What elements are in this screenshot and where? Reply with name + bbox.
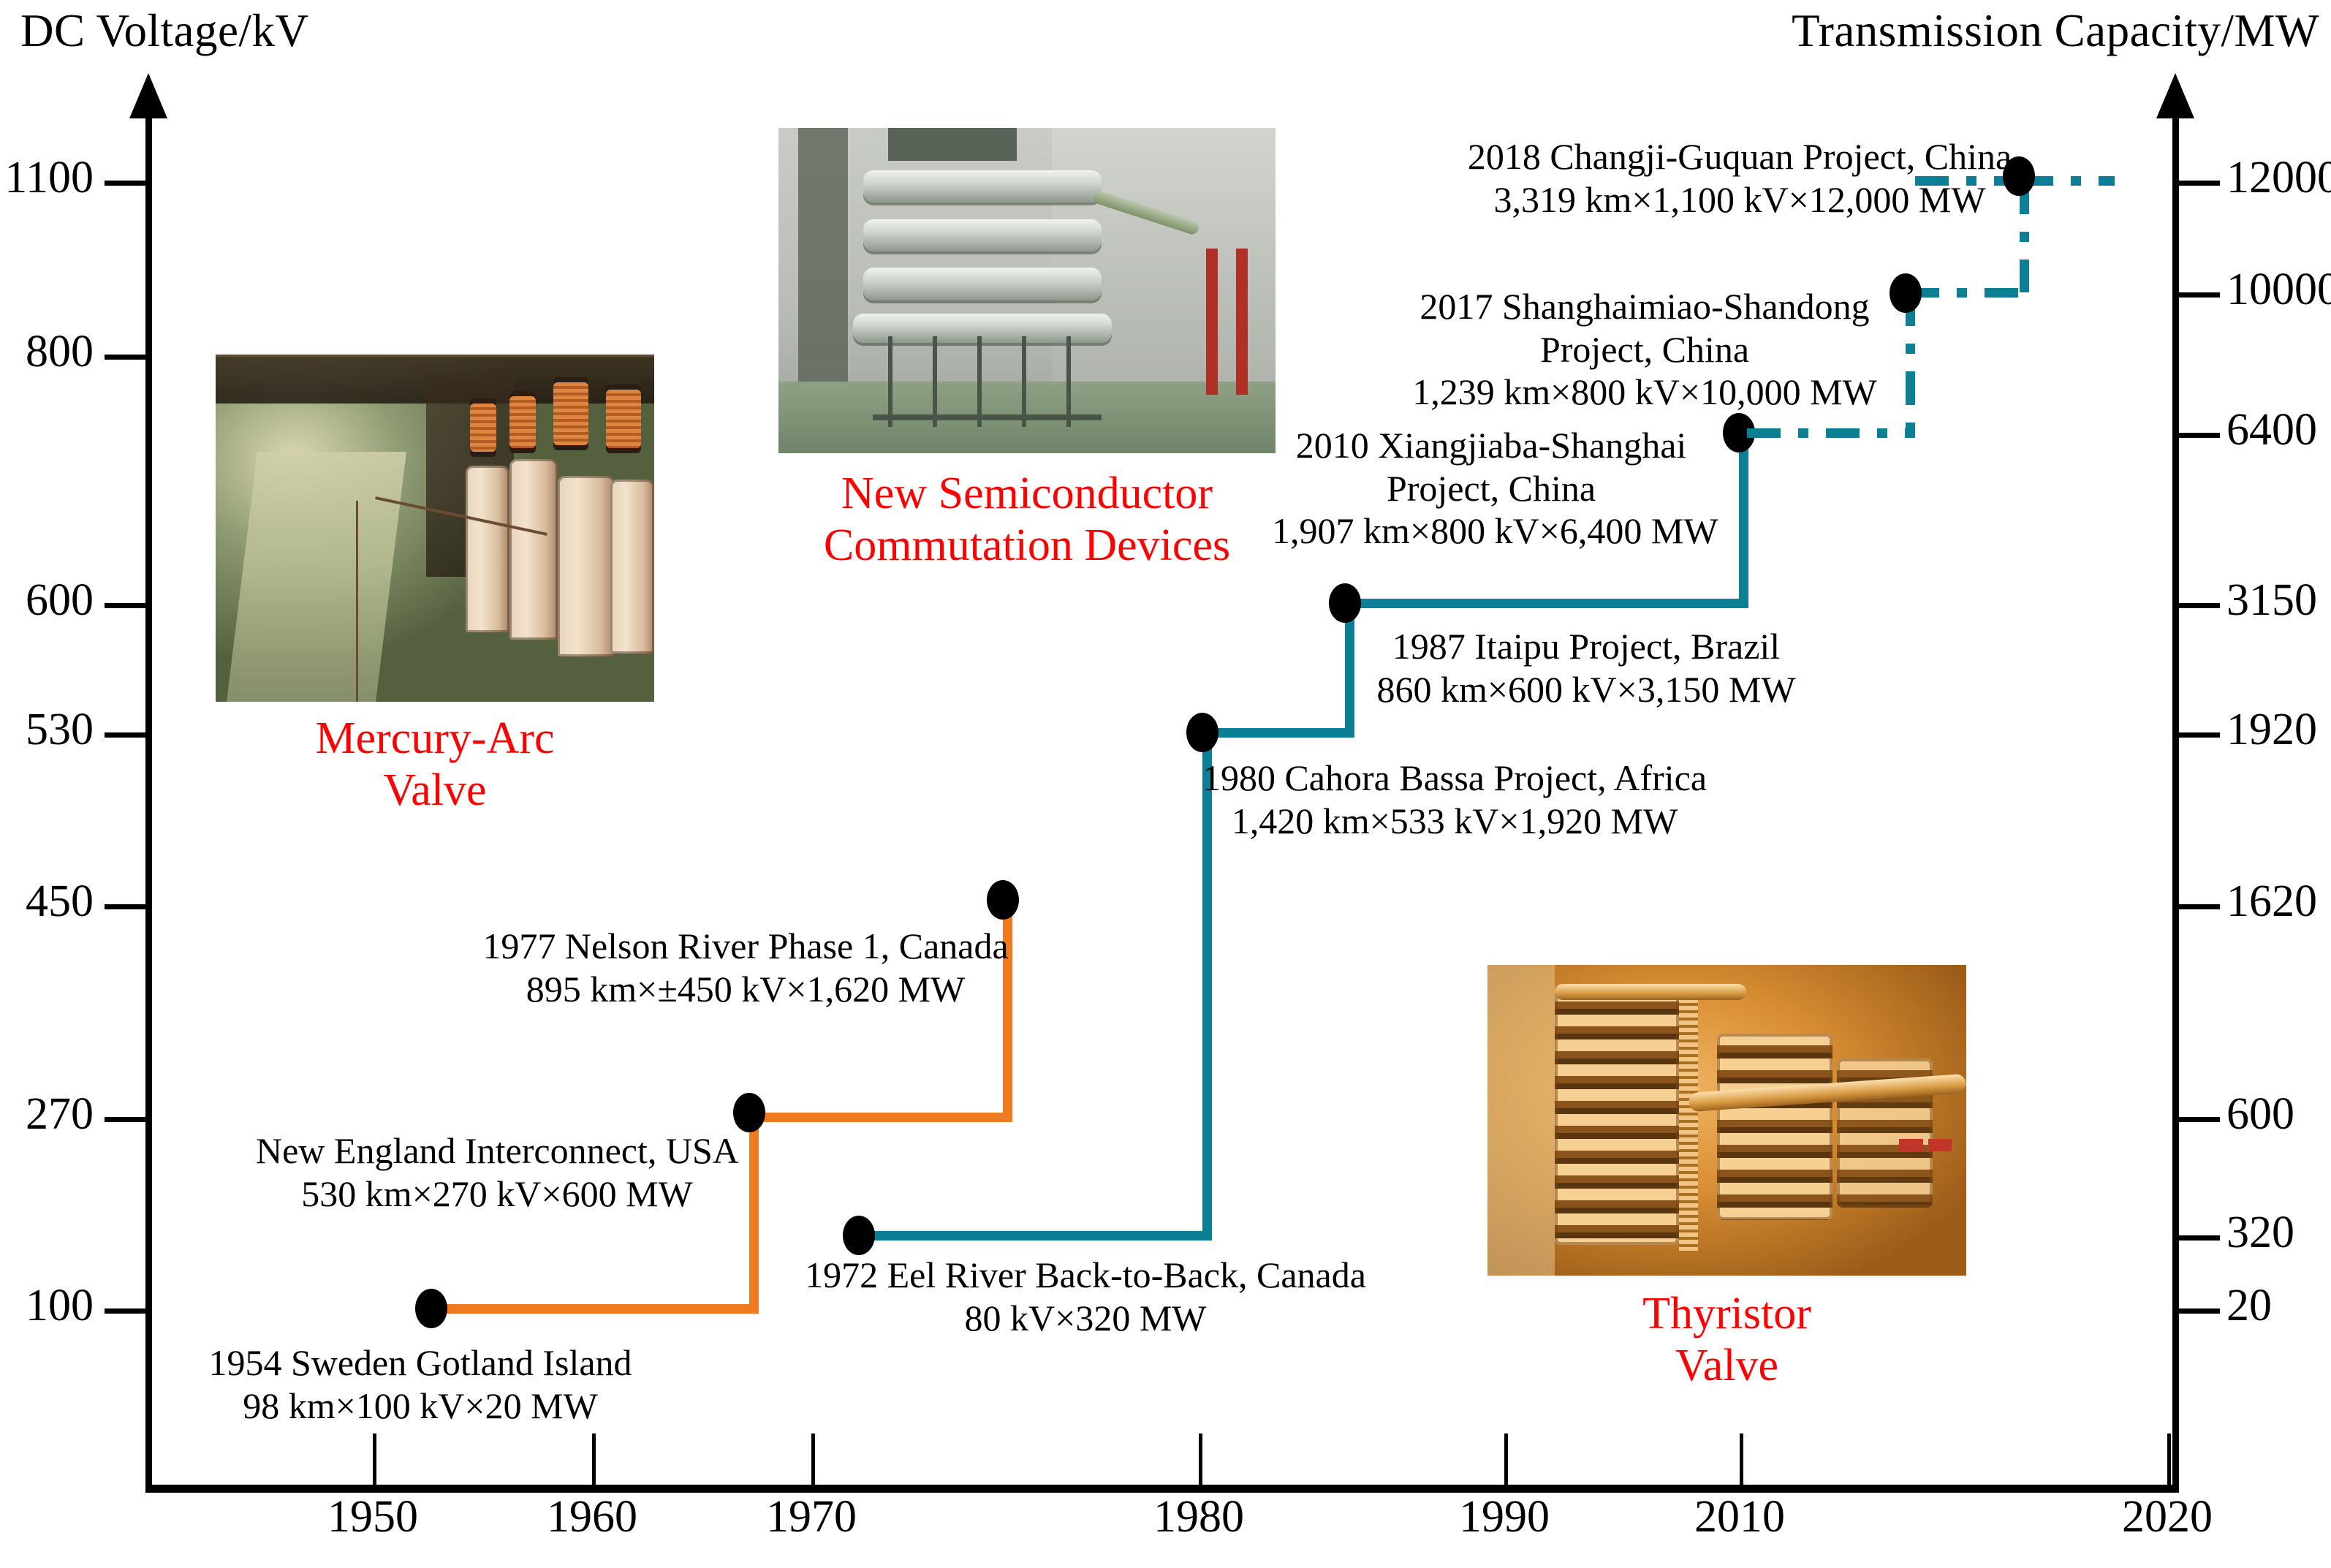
left-tick-100: [105, 1308, 145, 1314]
annotation-shanghaimiao-line1: 2017 Shanghaimiao-Shandong: [1411, 285, 1879, 328]
x-tick-1980: [1199, 1433, 1202, 1485]
annotation-changji-line1: 2018 Changji-Guquan Project, China: [1462, 135, 2017, 178]
annotation-itaipu-line1: 1987 Itaipu Project, Brazil: [1360, 625, 1813, 668]
caption-mercury-line1: Mercury-Arc: [216, 713, 654, 765]
right-tick-1620: [2179, 904, 2220, 909]
right-tick-label-1920: 1920: [2226, 704, 2317, 756]
right-tick-label-600: 600: [2226, 1088, 2294, 1140]
line-segment-shanghaimiao-riser-v: [1906, 292, 1915, 433]
left-tick-label-270: 270: [0, 1088, 94, 1140]
annotation-eelriver: 1972 Eel River Back-to-Back, Canada 80 k…: [793, 1254, 1378, 1339]
left-tick-label-530: 530: [0, 704, 94, 756]
caption-thyristor-valve: Thyristor Valve: [1487, 1288, 1966, 1391]
data-point-cahora-1980[interactable]: [1186, 713, 1218, 752]
right-axis-line: [2172, 115, 2179, 1493]
caption-mercury-line2: Valve: [216, 765, 654, 817]
right-tick-label-320: 320: [2226, 1207, 2294, 1259]
left-tick-label-100: 100: [0, 1280, 94, 1332]
right-tick-320: [2179, 1235, 2220, 1241]
left-tick-label-600: 600: [0, 575, 94, 626]
x-tick-2010: [1740, 1433, 1743, 1485]
x-tick-2020: [2167, 1433, 2171, 1485]
caption-mercury-arc-valve: Mercury-Arc Valve: [216, 713, 654, 816]
x-tick-label-1960: 1960: [490, 1491, 694, 1543]
x-tick-label-2010: 2010: [1637, 1491, 1842, 1543]
annotation-changji: 2018 Changji-Guquan Project, China 3,319…: [1462, 135, 2017, 221]
annotation-xiangjiaba-line1: 2010 Xiangjiaba-Shanghai: [1272, 424, 1710, 467]
right-tick-600: [2179, 1117, 2220, 1122]
thyristor-valve-photo: [1487, 965, 1966, 1276]
left-axis-arrow-icon: [129, 73, 167, 118]
annotation-nelson-line2: 895 km×±450 kV×1,620 MW: [475, 968, 1016, 1011]
left-tick-800: [105, 355, 145, 360]
right-tick-12000: [2179, 181, 2220, 186]
x-tick-1950: [373, 1433, 376, 1485]
right-axis-title: Transmission Capacity/MW: [1792, 4, 2319, 58]
annotation-xiangjiaba-line3: 1,907 km×800 kV×6,400 MW: [1272, 510, 1710, 553]
left-tick-600: [105, 603, 145, 608]
line-segment-xiangjiaba-riser-v: [1739, 428, 1748, 603]
x-tick-label-2020: 2020: [2065, 1491, 2270, 1543]
right-tick-6400: [2179, 433, 2220, 438]
left-axis-line: [145, 115, 152, 1493]
right-tick-label-3150: 3150: [2226, 575, 2317, 626]
annotation-itaipu-line2: 860 km×600 kV×3,150 MW: [1360, 668, 1813, 711]
annotation-newengland-line1: New England Interconnect, USA: [256, 1129, 738, 1173]
annotation-xiangjiaba-line2: Project, China: [1272, 467, 1710, 510]
caption-thyristor-line2: Valve: [1487, 1340, 1966, 1392]
line-segment-xiangjiaba-to-shanghaimiao-h: [1747, 428, 1915, 438]
annotation-xiangjiaba: 2010 Xiangjiaba-Shanghai Project, China …: [1272, 424, 1710, 553]
data-point-gotland-1954[interactable]: [415, 1289, 447, 1328]
caption-thyristor-line1: Thyristor: [1487, 1288, 1966, 1340]
line-segment-shanghaimiao-to-changji-h: [1906, 288, 2024, 298]
annotation-nelson: 1977 Nelson River Phase 1, Canada 895 km…: [475, 925, 1016, 1010]
x-tick-1960: [592, 1433, 596, 1485]
right-tick-20: [2179, 1308, 2220, 1314]
line-segment-cahora-to-itaipu-h: [1202, 728, 1354, 738]
data-point-eelriver-1972[interactable]: [843, 1216, 875, 1255]
x-tick-label-1970: 1970: [709, 1491, 914, 1543]
data-point-itaipu-1987[interactable]: [1329, 583, 1361, 623]
right-tick-1920: [2179, 732, 2220, 738]
left-tick-label-1100: 1100: [0, 152, 94, 204]
annotation-newengland: New England Interconnect, USA 530 km×270…: [256, 1129, 738, 1215]
right-tick-3150: [2179, 603, 2220, 608]
annotation-gotland-line2: 98 km×100 kV×20 MW: [186, 1385, 654, 1428]
annotation-gotland: 1954 Sweden Gotland Island 98 km×100 kV×…: [186, 1341, 654, 1427]
line-segment-newengland-riser-v: [749, 1113, 759, 1308]
left-tick-label-800: 800: [0, 326, 94, 378]
left-tick-530: [105, 732, 145, 738]
caption-semiconductor-line1: New Semiconductor: [757, 468, 1297, 520]
left-tick-270: [105, 1117, 145, 1122]
annotation-changji-line2: 3,319 km×1,100 kV×12,000 MW: [1462, 178, 2017, 221]
data-point-newengland-1967[interactable]: [733, 1093, 765, 1132]
left-axis-title: DC Voltage/kV: [20, 4, 308, 58]
annotation-eelriver-line2: 80 kV×320 MW: [793, 1297, 1378, 1340]
x-tick-1990: [1504, 1433, 1508, 1485]
caption-semiconductor-line2: Commutation Devices: [757, 520, 1297, 572]
annotation-cahora: 1980 Cahora Bassa Project, Africa 1,420 …: [1199, 757, 1710, 842]
right-tick-label-12000: 12000: [2226, 152, 2331, 204]
semiconductor-commutation-devices-photo: [778, 128, 1276, 453]
x-tick-label-1980: 1980: [1096, 1491, 1301, 1543]
line-segment-newengland-to-nelson-h: [749, 1113, 1012, 1122]
right-tick-label-10000: 10000: [2226, 264, 2331, 316]
x-tick-label-1990: 1990: [1402, 1491, 1607, 1543]
left-tick-450: [105, 904, 145, 909]
annotation-cahora-line1: 1980 Cahora Bassa Project, Africa: [1199, 757, 1710, 800]
data-point-shanghaimiao-2017[interactable]: [1890, 273, 1922, 313]
right-axis-arrow-icon: [2156, 73, 2194, 118]
annotation-shanghaimiao-line2: Project, China: [1411, 328, 1879, 371]
line-segment-itaipu-to-xiangjiaba-h: [1345, 599, 1748, 608]
right-tick-label-1620: 1620: [2226, 876, 2317, 928]
left-tick-1100: [105, 181, 145, 186]
line-segment-eelriver-to-cahora-h: [859, 1231, 1212, 1241]
line-segment-changji-riser-v: [2020, 181, 2029, 292]
annotation-cahora-line2: 1,420 km×533 kV×1,920 MW: [1199, 800, 1710, 843]
annotation-newengland-line2: 530 km×270 kV×600 MW: [256, 1173, 738, 1216]
right-tick-label-20: 20: [2226, 1280, 2272, 1332]
line-segment-gotland-to-newengland-h: [431, 1304, 759, 1314]
left-tick-label-450: 450: [0, 876, 94, 928]
annotation-itaipu: 1987 Itaipu Project, Brazil 860 km×600 k…: [1360, 625, 1813, 711]
mercury-arc-valve-photo: [216, 355, 654, 702]
x-tick-1970: [811, 1433, 815, 1485]
annotation-eelriver-line1: 1972 Eel River Back-to-Back, Canada: [793, 1254, 1378, 1297]
annotation-gotland-line1: 1954 Sweden Gotland Island: [186, 1341, 654, 1385]
x-tick-label-1950: 1950: [270, 1491, 475, 1543]
right-tick-label-6400: 6400: [2226, 404, 2317, 456]
annotation-nelson-line1: 1977 Nelson River Phase 1, Canada: [475, 925, 1016, 968]
right-tick-10000: [2179, 292, 2220, 298]
annotation-shanghaimiao: 2017 Shanghaimiao-Shandong Project, Chin…: [1411, 285, 1879, 414]
caption-semiconductor-devices: New Semiconductor Commutation Devices: [757, 468, 1297, 571]
annotation-shanghaimiao-line3: 1,239 km×800 kV×10,000 MW: [1411, 371, 1879, 414]
data-point-nelson-1977[interactable]: [987, 880, 1019, 920]
